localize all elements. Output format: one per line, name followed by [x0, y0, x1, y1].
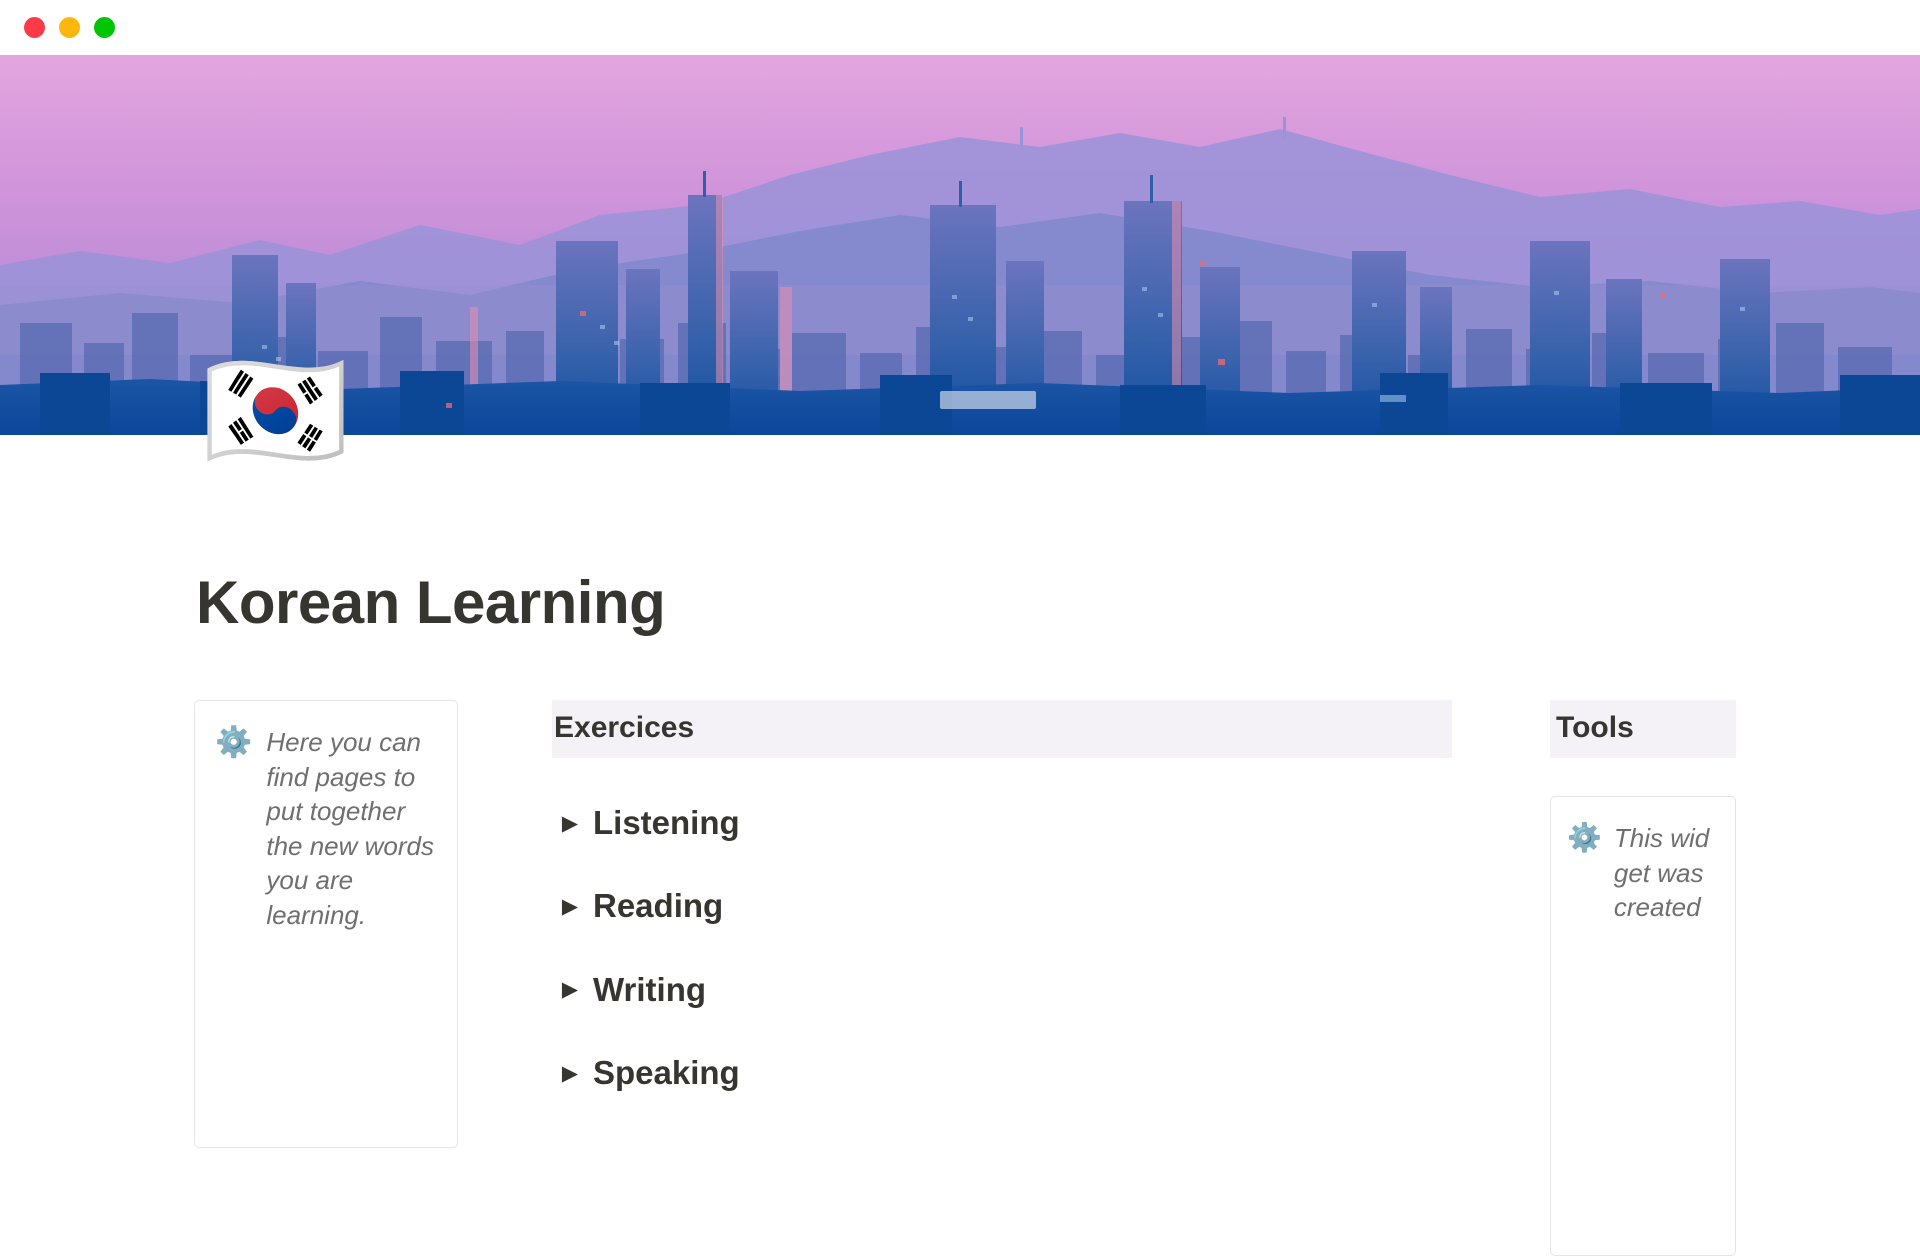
toggle-label-listening: Listening	[593, 805, 740, 841]
callout-left-text: Here you can find pages to put together …	[266, 725, 435, 932]
tools-header: Tools	[1550, 700, 1736, 758]
column-exercises: Exercices ▶ Listening ▶ Reading ▶ Writin…	[552, 700, 1452, 1129]
toggle-item-speaking[interactable]: ▶ Speaking	[552, 1046, 1452, 1100]
traffic-light-group	[24, 17, 115, 38]
callout-tools-text: This widget was created	[1614, 821, 1717, 925]
window-titlebar	[0, 0, 1920, 55]
maximize-window-button[interactable]	[94, 17, 115, 38]
callout-tools-block[interactable]: ⚙️ This widget was created	[1550, 796, 1736, 1256]
exercises-header: Exercices	[552, 700, 1452, 758]
toggle-label-speaking: Speaking	[593, 1055, 740, 1091]
chevron-right-icon[interactable]: ▶	[552, 1063, 574, 1084]
chevron-right-icon[interactable]: ▶	[552, 813, 574, 834]
toggle-item-listening[interactable]: ▶ Listening	[552, 796, 1452, 850]
toggle-item-writing[interactable]: ▶ Writing	[552, 963, 1452, 1017]
toggle-label-writing: Writing	[593, 972, 706, 1008]
chevron-right-icon[interactable]: ▶	[552, 896, 574, 917]
gear-icon: ⚙️	[215, 725, 252, 760]
chevron-right-icon[interactable]: ▶	[552, 979, 574, 1000]
column-tools: Tools ⚙️ This widget was created	[1550, 700, 1736, 1256]
gear-icon: ⚙️	[1567, 821, 1602, 854]
exercises-toggle-list: ▶ Listening ▶ Reading ▶ Writing ▶ Speaki…	[552, 796, 1452, 1100]
page-icon-korea-flag[interactable]: 🇰🇷	[202, 352, 349, 470]
callout-left-block[interactable]: ⚙️ Here you can find pages to put togeth…	[194, 700, 458, 1148]
toggle-label-reading: Reading	[593, 888, 723, 924]
toggle-item-reading[interactable]: ▶ Reading	[552, 879, 1452, 933]
close-window-button[interactable]	[24, 17, 45, 38]
minimize-window-button[interactable]	[59, 17, 80, 38]
page-title: Korean Learning	[196, 568, 665, 637]
